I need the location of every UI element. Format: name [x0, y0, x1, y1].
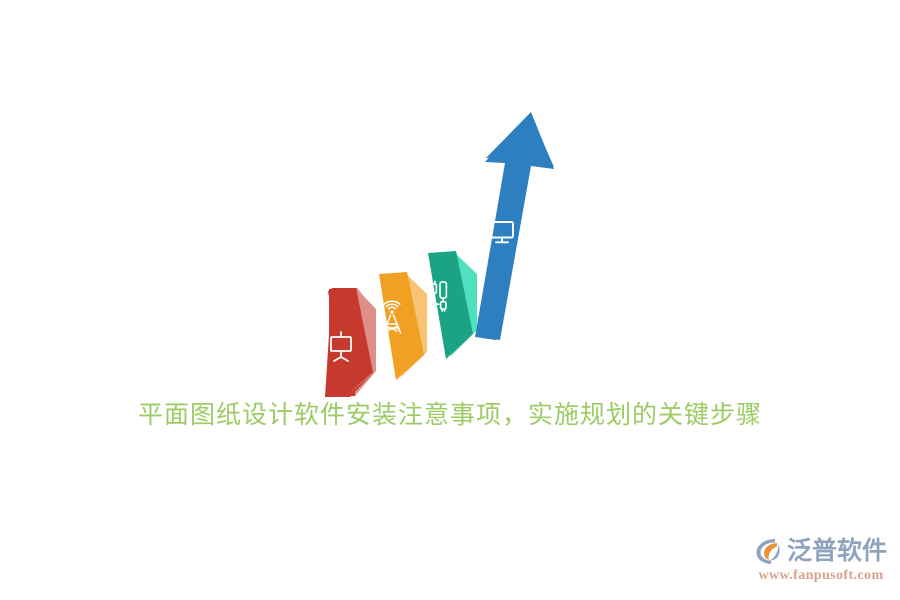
page-title: 平面图纸设计软件安装注意事项，实施规划的关键步骤: [0, 398, 900, 432]
brand-logo[interactable]: 泛普软件 www.fanpusoft.com: [754, 534, 888, 588]
brand-name: 泛普软件: [787, 536, 887, 566]
step-3-teal-block: [428, 251, 477, 359]
fanpu-logo-mark: [754, 536, 784, 566]
ascending-arrow-infographic: [0, 0, 900, 600]
screenshot-canvas: 平面图纸设计软件安装注意事项，实施规划的关键步骤 泛普软件 www.fanpus…: [0, 0, 900, 600]
arrow-body: [475, 112, 554, 340]
brand-url[interactable]: www.fanpusoft.com: [754, 567, 888, 585]
brand-logo-row: 泛普软件: [754, 534, 888, 568]
step-4-blue-arrow: [475, 112, 554, 340]
